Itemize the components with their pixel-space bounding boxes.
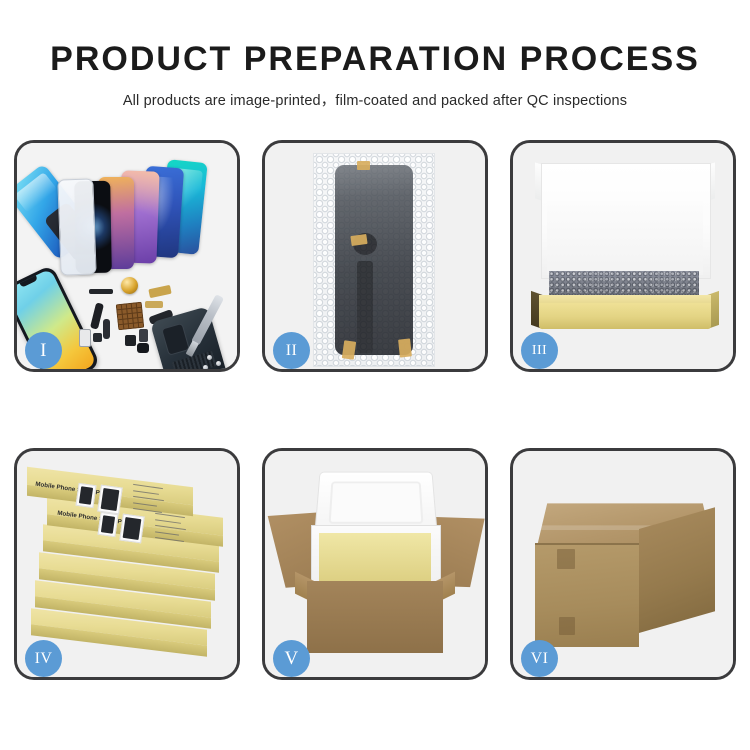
step-panel-6[interactable]: VI [510,448,736,680]
wrapped-screen-assembly [335,165,413,355]
step-panel-1[interactable]: I [14,140,240,372]
screw-icon [203,365,208,369]
process-step-grid: I II [14,140,736,680]
screw-icon [207,355,212,360]
earpiece-part-icon [89,289,113,294]
box-window-left [75,483,96,508]
camera-module-part [137,343,149,353]
yellow-boxes-inside [319,533,431,581]
tape-strip [357,161,370,170]
step-badge-5: V [273,640,310,677]
carton-front-face [307,581,443,653]
step-badge-4: IV [25,640,62,677]
carton-tab-lower [559,617,575,635]
box-yellow-tray [539,303,711,329]
tape-strip [342,340,356,359]
carton-front-face [535,543,639,647]
step-panel-4[interactable]: Mobile Phone Spare Parts Mobile Phone Sp… [14,448,240,680]
tape-strip [398,338,412,357]
step-panel-2[interactable]: II [262,140,488,372]
carton-tab-upper [557,549,575,569]
step-badge-1: I [25,332,62,369]
step-panel-3[interactable]: III [510,140,736,372]
box-window-right [97,485,123,515]
flex-cable-gold-b [145,301,163,308]
small-module-b [139,329,148,342]
page-title: PRODUCT PREPARATION PROCESS [0,0,750,78]
poster-header: PRODUCT PREPARATION PROCESS All products… [0,0,750,110]
step-badge-3: III [521,332,558,369]
box-window-left [97,512,118,537]
step-badge-2: II [273,332,310,369]
small-module-c [93,333,102,342]
carton-seam [535,543,639,545]
white-foam-liner [547,201,703,275]
screw-icon [216,361,221,366]
page-subtitle: All products are image-printed，film-coat… [0,78,750,110]
tempered-glass-sheet [57,178,96,275]
small-module-a [125,335,136,346]
box-window-right [119,514,145,544]
chip-grid-part [116,302,145,331]
poster-root: PRODUCT PREPARATION PROCESS All products… [0,0,750,750]
carton-side-face [639,507,715,633]
sim-tray-part [79,329,91,347]
speaker-part-icon [121,277,138,294]
flex-cable-black-b [103,319,110,339]
step-badge-6: VI [521,640,558,677]
step-panel-5[interactable]: V [262,448,488,680]
